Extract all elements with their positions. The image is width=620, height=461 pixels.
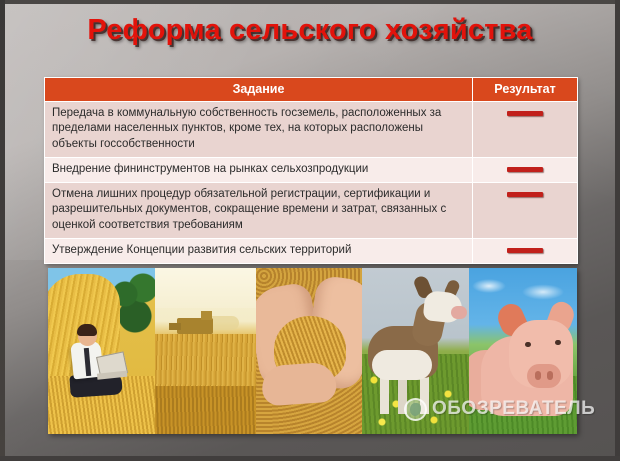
pig-eye [525,342,531,347]
sky-haze [155,268,256,308]
column-header-result: Результат [473,78,578,102]
result-dash-icon [507,192,543,197]
laptop [96,351,128,378]
man-hair [77,324,97,336]
presentation-slide: Реформа сельского хозяйства Задание Резу… [0,0,620,461]
result-dash-icon [507,167,543,172]
photo-pigs-in-grass [469,268,577,434]
photo-man-with-laptop-on-haystack [48,268,155,434]
result-cell [473,183,578,239]
calf-leg [398,374,407,414]
table-header-row: Задание Результат [45,78,578,102]
photo-combine-harvester-in-wheat-field [155,268,256,434]
reform-table: Задание Результат Передача в коммунальну… [44,77,578,264]
result-cell [473,238,578,263]
pig-eye [555,340,561,345]
result-dash-icon [507,111,543,116]
wheat-foreground [155,386,256,434]
slide-frame-top [0,0,620,4]
task-cell: Передача в коммунальную собственность го… [45,102,473,158]
photo-hands-holding-grain [256,268,362,434]
pig-snout [527,364,561,388]
result-cell [473,157,578,182]
photo-strip [48,268,577,434]
photo-calf-in-flower-meadow [362,268,469,434]
result-dash-icon [507,248,543,253]
combine-harvester [177,318,213,334]
page-title: Реформа сельского хозяйства [0,14,620,47]
table-row: Отмена лишних процедур обязательной реги… [45,183,578,239]
reform-table-container: Задание Результат Передача в коммунальну… [44,77,577,264]
slide-frame-right [615,0,620,461]
fingers [261,361,338,406]
column-header-task: Задание [45,78,473,102]
table-row: Внедрение фининструментов на рынках сель… [45,157,578,182]
pig-nostril [535,371,541,380]
task-cell: Утверждение Концепции развития сельских … [45,238,473,263]
calf-muzzle [451,306,467,319]
task-cell: Внедрение фининструментов на рынках сель… [45,157,473,182]
result-cell [473,102,578,158]
slide-frame-bottom [0,456,620,461]
table-row: Передача в коммунальную собственность го… [45,102,578,158]
task-cell: Отмена лишних процедур обязательной реги… [45,183,473,239]
pig-nostril [547,371,553,380]
calf-white-patch [372,350,432,380]
table-row: Утверждение Концепции развития сельских … [45,238,578,263]
slide-frame-left [0,0,5,461]
